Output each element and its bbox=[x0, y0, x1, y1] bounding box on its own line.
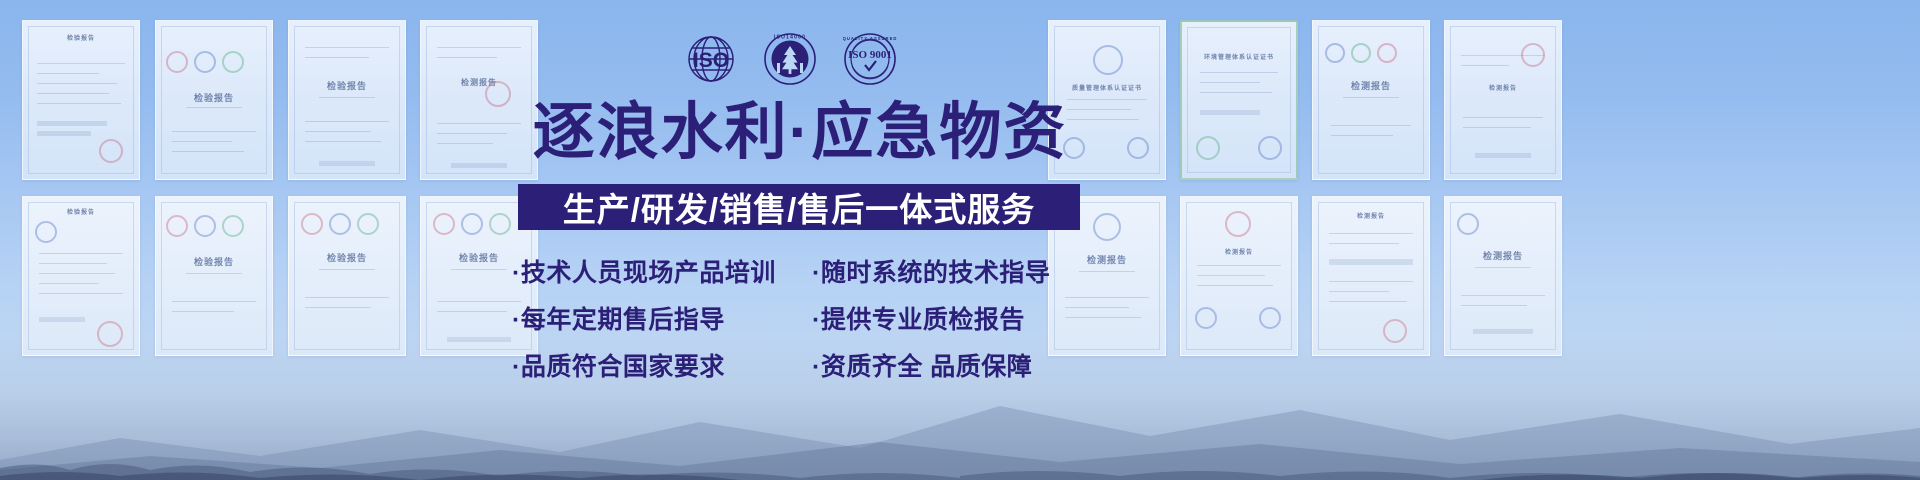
certificate-title: 检验报告 bbox=[67, 207, 95, 216]
certificate-title: 环境管理体系认证证书 bbox=[1204, 52, 1274, 61]
iso9001-badge-sublabel: QUALITY ASSURED bbox=[843, 36, 897, 41]
certificate-title: 检验报告 bbox=[327, 251, 367, 264]
certificate-title: 检测报告 bbox=[1225, 247, 1253, 256]
certification-badges: ISO ISO14000 bbox=[685, 32, 897, 86]
iso-globe-badge-label: ISO bbox=[693, 49, 729, 72]
certificate-card: 检验报告 bbox=[155, 20, 273, 180]
feature-row: ·技术人员现场产品培训 ·随时系统的技术指导 bbox=[512, 247, 1087, 294]
certificate-title: 检验报告 bbox=[194, 91, 234, 104]
iso14000-badge: ISO14000 bbox=[763, 32, 817, 86]
certificate-title: 检验报告 bbox=[194, 255, 234, 268]
iso14000-badge-label: ISO14000 bbox=[774, 35, 806, 41]
certificate-title: 检测报告 bbox=[1483, 249, 1523, 262]
certificate-card: 检验报告 bbox=[288, 20, 406, 180]
promo-banner: 检验报告 检验报告 检验报告 bbox=[0, 0, 1920, 480]
iso9001-badge-label: ISO 9001 bbox=[848, 49, 892, 61]
certificate-title: 检测报告 bbox=[1489, 83, 1517, 92]
feature-item: ·品质符合国家要求 bbox=[512, 347, 812, 383]
certificate-title: 检测报告 bbox=[1351, 79, 1391, 92]
feature-item: ·随时系统的技术指导 bbox=[812, 253, 1087, 289]
iso9001-badge: ISO 9001 QUALITY ASSURED bbox=[843, 32, 897, 86]
certificate-card: 检验报告 bbox=[22, 20, 140, 180]
feature-list: ·技术人员现场产品培训 ·随时系统的技术指导 ·每年定期售后指导 ·提供专业质检… bbox=[512, 247, 1087, 388]
subtitle-text: 生产/研发/销售/售后一体式服务 bbox=[563, 183, 1036, 231]
feature-row: ·每年定期售后指导 ·提供专业质检报告 bbox=[512, 294, 1087, 341]
feature-item: ·每年定期售后指导 bbox=[512, 300, 812, 336]
certificate-title: 检测报告 bbox=[1357, 211, 1385, 220]
feature-row: ·品质符合国家要求 ·资质齐全 品质保障 bbox=[512, 341, 1087, 388]
certificate-title: 检验报告 bbox=[67, 33, 95, 42]
certificate-card: 检测报告 bbox=[1444, 20, 1562, 180]
certificate-title: 检验报告 bbox=[327, 79, 367, 92]
banner-content: ISO ISO14000 bbox=[500, 0, 1100, 480]
iso-globe-badge: ISO bbox=[685, 33, 737, 85]
feature-item: ·提供专业质检报告 bbox=[812, 300, 1087, 336]
feature-item: ·资质齐全 品质保障 bbox=[812, 347, 1087, 383]
page-title: 逐浪水利·应急物资 bbox=[500, 98, 1100, 168]
certificate-title: 检验报告 bbox=[459, 251, 499, 264]
certificate-card: 检测报告 bbox=[1312, 20, 1430, 180]
subtitle-banner: 生产/研发/销售/售后一体式服务 bbox=[518, 184, 1080, 230]
feature-item: ·技术人员现场产品培训 bbox=[512, 253, 812, 289]
certificate-card: 环境管理体系认证证书 bbox=[1180, 20, 1298, 180]
